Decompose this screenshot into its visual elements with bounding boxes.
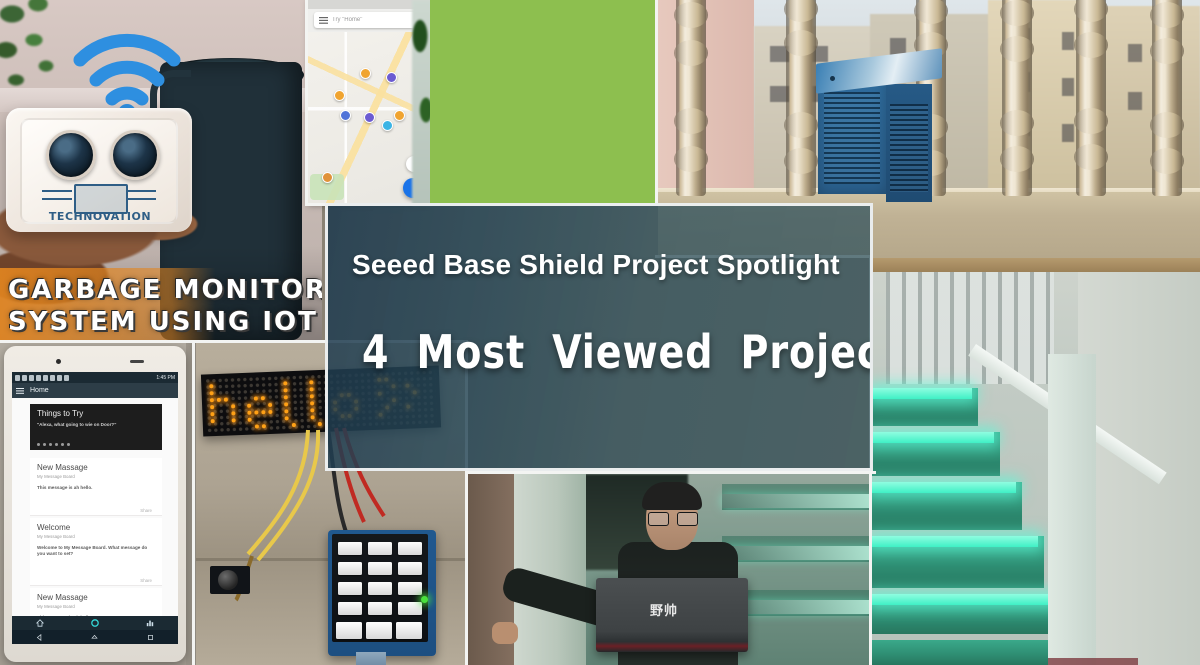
stair-led-glow — [872, 432, 994, 443]
stair-led-glow — [872, 536, 1038, 547]
home-icon[interactable] — [36, 619, 44, 627]
enclosure-vents-front — [824, 92, 880, 184]
message-body: Welcome to My Message Board. What messag… — [37, 545, 155, 557]
maps-search-placeholder[interactable]: Try "Home" — [332, 17, 410, 23]
baluster — [786, 0, 816, 196]
garbage-caption-line1: GARBAGE MONITORING — [8, 274, 322, 306]
laptop-brand-logo: 野帅 — [650, 600, 678, 619]
ceiling-beam — [872, 258, 1200, 272]
technovation-logo-text: TECHNOVATION — [36, 210, 164, 223]
map-pin[interactable] — [386, 72, 397, 83]
tile-led-stairs — [872, 258, 1200, 665]
map-pin[interactable] — [394, 110, 405, 121]
sensor-device-enclosure: TECHNOVATION — [6, 108, 192, 232]
app-content[interactable]: Things to Try "Alexa, what going to wie … — [12, 398, 178, 616]
menu-icon[interactable] — [319, 17, 328, 24]
enclosure-indicator — [830, 76, 835, 81]
spotlight-overlay-panel: Seeed Base Shield Project Spotlight 4 Mo… — [325, 203, 873, 471]
overlay-subtitle: 4 Most Viewed Projects — [362, 324, 873, 380]
ultrasonic-sensor-right — [110, 130, 160, 180]
app-bottom-nav[interactable] — [12, 616, 178, 630]
baluster — [1152, 0, 1182, 196]
tile-garbage-monitoring: TECHNOVATION GARBAGE MONITORING SYSTEM U… — [0, 0, 322, 342]
message-board-name: My Message Board — [37, 604, 155, 609]
tile-tablet-message-board: 1:45 PM Home Things to Try "Alexa, what … — [0, 342, 196, 665]
enclosure-vents-side — [890, 104, 928, 192]
stair-led-glow — [872, 388, 972, 399]
person-hand — [492, 622, 518, 644]
hamburger-menu-icon[interactable] — [16, 388, 24, 394]
power-led-indicator — [421, 596, 428, 603]
list-item[interactable]: New Massage My Message Board This messag… — [30, 458, 162, 516]
spotlight-banner: TECHNOVATION GARBAGE MONITORING SYSTEM U… — [0, 0, 1200, 665]
things-to-try-subtitle: "Alexa, what going to wie on Door?" — [37, 422, 155, 427]
overlay-title: Seeed Base Shield Project Spotlight — [352, 248, 840, 282]
grove-base-shield — [332, 534, 428, 642]
tablet-device: 1:45 PM Home Things to Try "Alexa, what … — [4, 346, 186, 662]
person-hair — [642, 482, 702, 510]
recents-icon[interactable] — [147, 634, 154, 641]
potentiometer-knob — [218, 570, 238, 590]
stair-pillar — [1048, 354, 1096, 665]
list-item[interactable]: New Massage My Message Board This messag… — [30, 588, 162, 616]
share-action[interactable]: Share — [140, 508, 152, 513]
garbage-caption-line2: SYSTEM USING IOT — [8, 306, 322, 338]
map-pin[interactable] — [382, 120, 393, 131]
upper-railing — [886, 272, 1054, 384]
baluster — [1002, 0, 1032, 196]
laptop: 野帅 — [596, 578, 748, 652]
baluster — [676, 0, 706, 196]
carousel-dots[interactable] — [37, 443, 70, 446]
message-body: This message is ah hello. — [37, 485, 155, 491]
speaker-grille — [130, 360, 144, 363]
things-to-try-card[interactable]: Things to Try "Alexa, what going to wie … — [30, 404, 162, 450]
collage-seam — [655, 0, 658, 206]
app-toolbar: Home — [12, 383, 178, 398]
list-item[interactable]: Welcome My Message Board Welcome to My M… — [30, 518, 162, 586]
tile-man-with-laptop: 野帅 — [468, 474, 872, 665]
android-nav-bar[interactable] — [12, 630, 178, 644]
map-pin[interactable] — [334, 90, 345, 101]
front-camera-icon — [56, 359, 61, 364]
share-action[interactable]: Share — [140, 578, 152, 583]
message-title: Welcome — [37, 523, 155, 532]
stair-step — [872, 640, 1072, 665]
tablet-screen[interactable]: 1:45 PM Home Things to Try "Alexa, what … — [12, 372, 178, 644]
arduino-board — [328, 530, 436, 656]
collage-seam — [192, 340, 195, 665]
stair-led-glow — [872, 482, 1016, 493]
mic-circle-icon[interactable] — [91, 619, 99, 627]
stair-led-strip — [722, 546, 872, 560]
floor-trim — [1048, 658, 1138, 665]
tile-green-panel — [430, 0, 658, 203]
tile-tree-strip — [412, 0, 432, 206]
message-title: New Massage — [37, 463, 155, 472]
android-status-bar: 1:45 PM — [12, 372, 178, 383]
collage-seam — [466, 471, 876, 474]
stair-led-strip — [722, 494, 872, 508]
message-board-name: My Message Board — [37, 534, 155, 539]
ultrasonic-sensor-left — [46, 130, 96, 180]
map-pin[interactable] — [360, 68, 371, 79]
things-to-try-title: Things to Try — [37, 409, 155, 418]
air-quality-enclosure — [818, 58, 936, 200]
baluster — [1076, 0, 1106, 196]
message-title: New Massage — [37, 593, 155, 602]
building-left — [658, 0, 754, 215]
status-bar-clock: 1:45 PM — [156, 375, 175, 381]
back-icon[interactable] — [36, 634, 43, 641]
app-title: Home — [30, 387, 49, 394]
eyeglasses-icon — [648, 512, 696, 524]
usb-port — [356, 652, 386, 665]
rotary-module — [210, 566, 250, 594]
home-circle-icon[interactable] — [91, 634, 98, 641]
technovation-logo: TECHNOVATION — [36, 184, 164, 224]
map-pin[interactable] — [364, 112, 375, 123]
message-board-name: My Message Board — [37, 474, 155, 479]
garbage-caption: GARBAGE MONITORING SYSTEM USING IOT — [8, 274, 322, 338]
stats-icon[interactable] — [146, 619, 154, 627]
collage-seam — [305, 0, 308, 206]
status-icons — [15, 375, 69, 381]
map-pin[interactable] — [322, 172, 333, 183]
maps-search-bar[interactable]: Try "Home" — [314, 12, 424, 28]
stair-led-glow — [872, 594, 1054, 605]
map-pin[interactable] — [340, 110, 351, 121]
